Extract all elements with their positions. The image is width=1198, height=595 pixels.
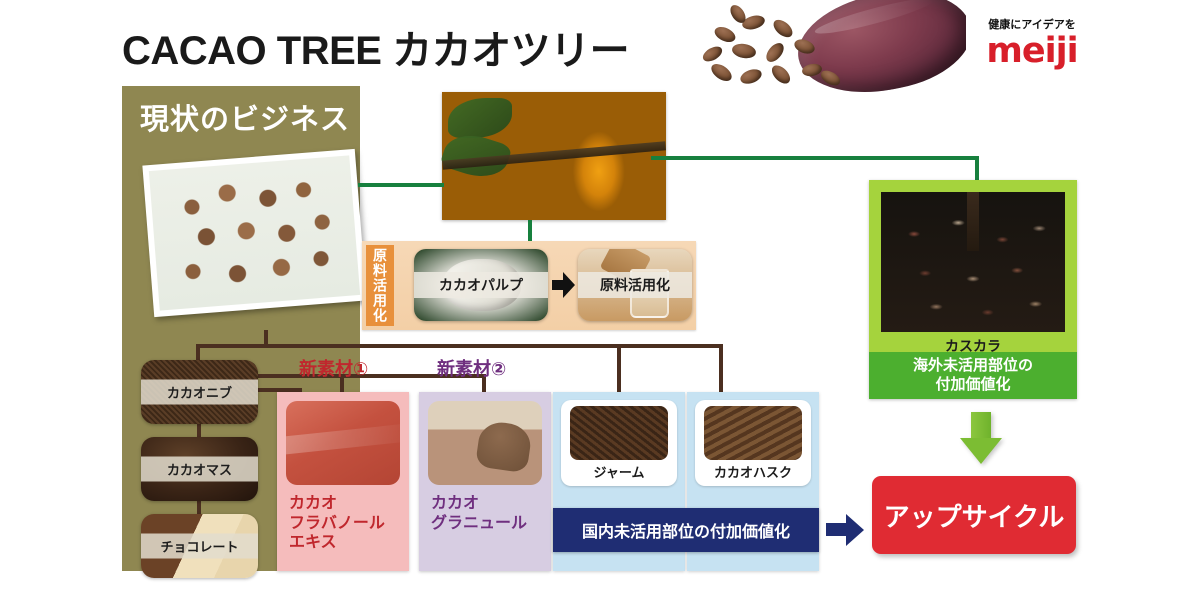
navy-right-arrow-icon [826, 514, 864, 546]
domestic-unused-banner: 国内未活用部位の付加価値化 [553, 508, 819, 552]
page-title: CACAO TREE カカオツリー [122, 18, 629, 76]
product-label-cacao-nibs: カカオニブ [141, 380, 258, 405]
connector-brown-drop-husk [719, 344, 723, 392]
raw-material-product-label: 原料活用化 [578, 272, 692, 298]
product-chip-cacao-mass: カカオマス [141, 437, 258, 501]
flavanol-line-2: フラバノール [289, 514, 385, 534]
connector-brown-main-horizontal [196, 344, 723, 348]
flavanol-line-1: カカオ [289, 494, 385, 514]
raw-material-utilization-tab: 原料活用化 [366, 245, 394, 326]
cacao-pulp-label: カカオパルプ [414, 272, 548, 298]
cacao-husk-image [704, 406, 802, 460]
logo-wordmark: meiji [972, 34, 1092, 69]
meiji-logo: 健康にアイデアを meiji [972, 20, 1092, 69]
raw-material-product-card: 原料活用化 [578, 249, 692, 321]
connector-green-beans-to-tree [358, 183, 444, 187]
green-down-arrow-icon [960, 412, 1002, 464]
card-cacao-flavanol-extract: カカオ フラバノール エキス [277, 392, 409, 571]
cascara-image [881, 192, 1065, 332]
germ-card: ジャーム [561, 400, 677, 486]
overseas-banner-line-1: 海外未活用部位の [913, 357, 1033, 376]
cacao-pod-and-beans-photo [684, 0, 966, 92]
product-chip-chocolate: チョコレート [141, 514, 258, 578]
germ-image [570, 406, 668, 460]
logo-tagline: 健康にアイデアを [972, 20, 1092, 31]
cacao-granule-image [428, 401, 542, 485]
cacao-beans-polaroid-photo [142, 149, 366, 317]
connector-green-horizontal [651, 156, 979, 160]
cacao-husk-label: カカオハスク [695, 462, 811, 481]
overseas-banner-line-2: 付加価値化 [913, 376, 1033, 395]
cacao-pulp-card: カカオパルプ [414, 249, 548, 321]
right-arrow-icon [552, 271, 574, 299]
new-material-label-1: 新素材① [299, 355, 368, 381]
cacao-husk-card: カカオハスク [695, 400, 811, 486]
flavanol-line-3: エキス [289, 533, 385, 553]
upcycle-box: アップサイクル [872, 476, 1076, 554]
overseas-unused-banner: 海外未活用部位の 付加価値化 [869, 352, 1077, 399]
connector-brown-drop-germ [617, 344, 621, 392]
cacao-granule-text: カカオ グラニュール [431, 494, 527, 533]
granule-line-2: グラニュール [431, 514, 527, 534]
cacao-pod-image [789, 0, 966, 92]
connector-green-down-to-pulp [528, 220, 532, 243]
granule-line-1: カカオ [431, 494, 527, 514]
germ-label: ジャーム [561, 462, 677, 481]
current-business-heading: 現状のビジネス [140, 96, 350, 138]
cacao-flavanol-extract-text: カカオ フラバノール エキス [289, 494, 385, 553]
connector-brown-trunk-top [264, 330, 268, 344]
cacao-flavanol-extract-image [286, 401, 400, 485]
product-label-cacao-mass: カカオマス [141, 457, 258, 482]
card-cacao-granule: カカオ グラニュール [419, 392, 551, 571]
product-label-chocolate: チョコレート [141, 534, 258, 559]
product-chip-cacao-nibs: カカオニブ [141, 360, 258, 424]
cacao-tree-photo [442, 92, 666, 220]
infographic-canvas: CACAO TREE カカオツリー 健康にアイデアを meiji 現状のビジネス [0, 0, 1198, 595]
new-material-label-2: 新素材② [437, 355, 506, 381]
